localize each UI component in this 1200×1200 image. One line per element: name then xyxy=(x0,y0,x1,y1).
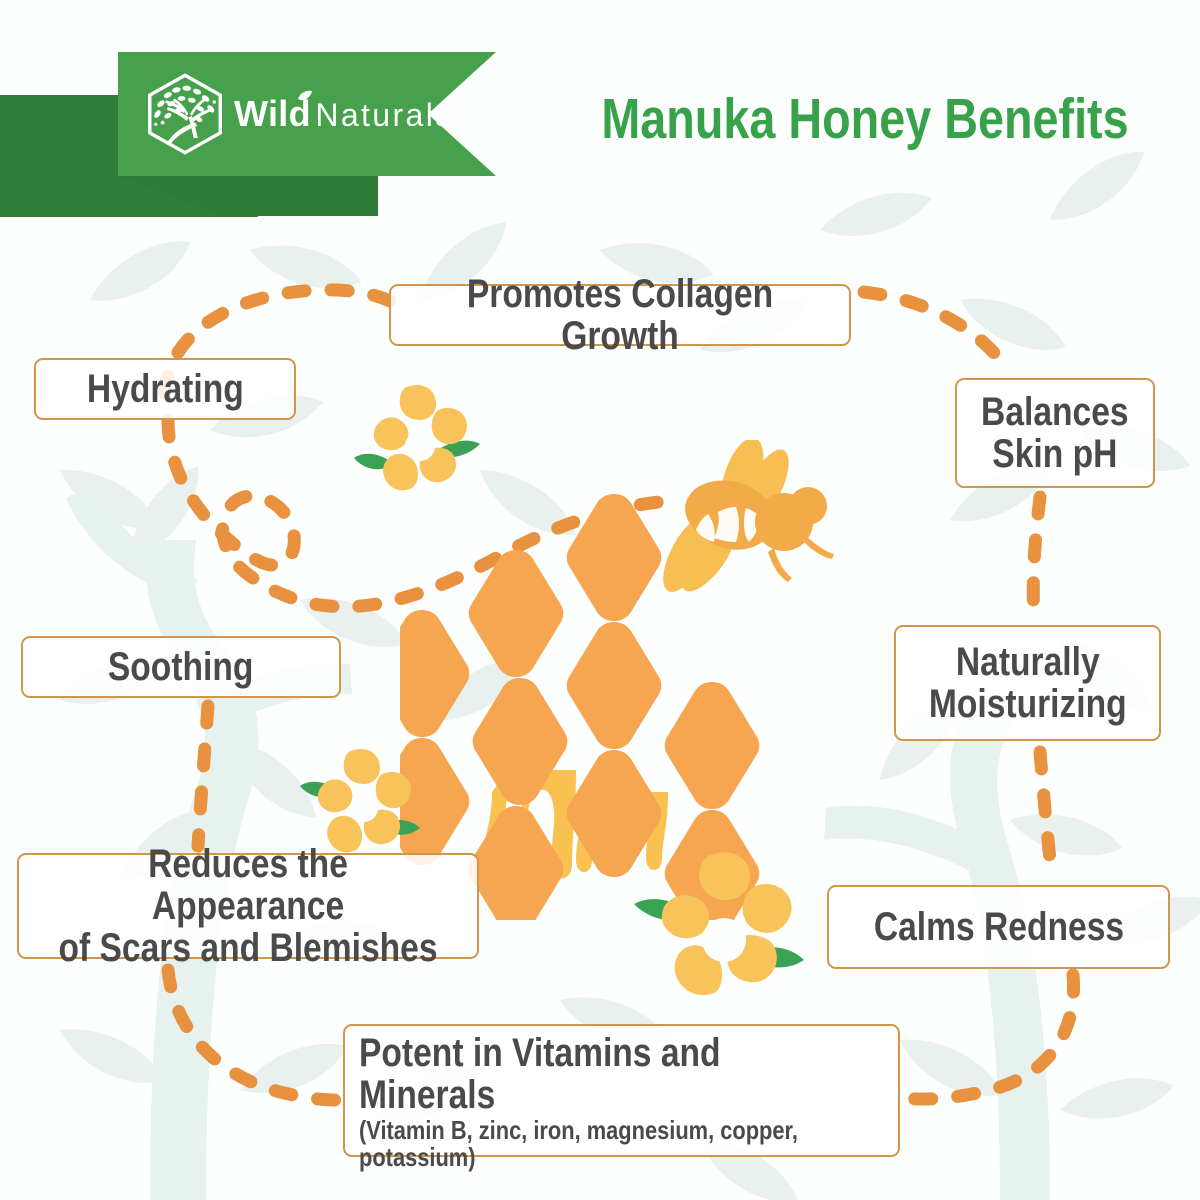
benefit-box-calms-redness[interactable]: Calms Redness xyxy=(827,885,1170,969)
infographic-canvas: Wild Naturals® Manuka Honey Benefits Pro… xyxy=(0,0,1200,1200)
benefit-sublabel: (Vitamin B, zinc, iron, magnesium, coppe… xyxy=(359,1117,798,1171)
flower-center xyxy=(405,431,435,461)
leaf-icon xyxy=(297,90,313,104)
benefit-label: Hydrating xyxy=(87,368,244,410)
brand-wordmark: Wild Naturals® xyxy=(234,96,466,132)
flower-icon xyxy=(632,846,812,1006)
bee-icon xyxy=(653,440,834,599)
benefit-box-balances-skin-ph[interactable]: Balances Skin pH xyxy=(955,378,1155,488)
benefit-label: Potent in Vitamins and Minerals xyxy=(359,1032,812,1116)
flower-icon xyxy=(298,744,420,854)
hexagon-tree-logo-icon xyxy=(142,71,228,157)
benefit-label: Reduces the Appearance of Scars and Blem… xyxy=(56,843,441,969)
benefit-box-reduces-scars[interactable]: Reduces the Appearance of Scars and Blem… xyxy=(17,853,479,959)
benefit-label: Soothing xyxy=(108,646,254,688)
flower-icon xyxy=(352,378,480,496)
benefit-box-hydrating[interactable]: Hydrating xyxy=(34,358,296,420)
flower-center xyxy=(702,918,746,962)
benefit-label: Calms Redness xyxy=(873,906,1123,948)
benefit-label: Naturally Moisturizing xyxy=(929,641,1127,725)
benefit-box-collagen[interactable]: Promotes Collagen Growth xyxy=(389,284,851,346)
benefit-label: Balances Skin pH xyxy=(981,391,1129,475)
brand-line-2: Naturals xyxy=(315,97,453,133)
benefit-box-soothing[interactable]: Soothing xyxy=(21,636,341,698)
brand-banner: Wild Naturals® xyxy=(118,52,496,176)
benefit-label: Promotes Collagen Growth xyxy=(428,273,813,357)
flower-center xyxy=(350,794,378,822)
benefit-box-naturally-moisturizing[interactable]: Naturally Moisturizing xyxy=(894,625,1161,741)
registered-mark: ® xyxy=(454,101,467,117)
benefit-box-vitamins-minerals[interactable]: Potent in Vitamins and Minerals (Vitamin… xyxy=(343,1024,900,1157)
page-title: Manuka Honey Benefits xyxy=(599,78,1132,160)
